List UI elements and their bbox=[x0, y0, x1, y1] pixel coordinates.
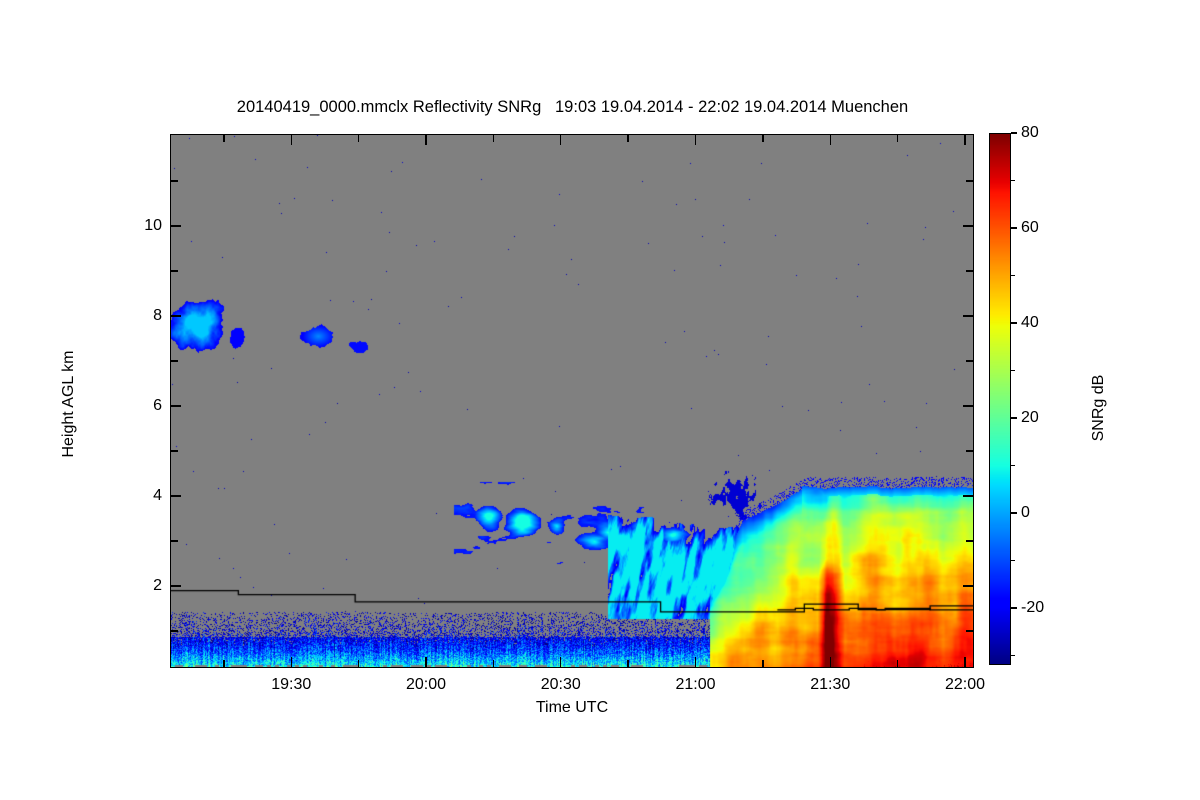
x-tick-minor bbox=[762, 660, 763, 668]
y-tick-minor-right bbox=[966, 270, 974, 271]
colorbar-tick-minor bbox=[1011, 560, 1015, 561]
x-tick-major bbox=[560, 657, 561, 668]
colorbar-tick-minor bbox=[1011, 655, 1015, 656]
colorbar-tick bbox=[1011, 512, 1017, 513]
y-tick-label: 6 bbox=[118, 397, 162, 415]
x-axis-title: Time UTC bbox=[170, 699, 974, 717]
x-tick-minor bbox=[897, 660, 898, 668]
y-tick-major bbox=[170, 315, 181, 316]
y-tick-major-right bbox=[963, 405, 974, 406]
x-tick-minor-top bbox=[762, 134, 763, 142]
colorbar-tick bbox=[1011, 132, 1017, 133]
y-tick-minor-right bbox=[966, 450, 974, 451]
x-tick-major bbox=[830, 657, 831, 668]
x-tick-major-top bbox=[560, 134, 561, 145]
x-tick-minor bbox=[493, 660, 494, 668]
x-tick-label: 21:30 bbox=[785, 676, 875, 694]
colorbar bbox=[989, 133, 1011, 665]
x-tick-label: 21:00 bbox=[651, 676, 741, 694]
heatmap-canvas bbox=[171, 135, 974, 668]
colorbar-tick bbox=[1011, 322, 1017, 323]
x-tick-minor bbox=[223, 660, 224, 668]
colorbar-title: SNRg dB bbox=[1090, 308, 1108, 508]
y-tick-label: 4 bbox=[118, 487, 162, 505]
y-tick-minor-right bbox=[966, 180, 974, 181]
y-tick-major-right bbox=[963, 585, 974, 586]
x-tick-major bbox=[425, 657, 426, 668]
page-title: 20140419_0000.mmclx Reflectivity SNRg 19… bbox=[170, 98, 975, 117]
y-tick-minor-right bbox=[966, 360, 974, 361]
colorbar-tick-label: -20 bbox=[1021, 599, 1044, 617]
x-tick-major bbox=[964, 657, 965, 668]
x-tick-minor-top bbox=[897, 134, 898, 142]
x-tick-minor-top bbox=[358, 134, 359, 142]
x-tick-minor bbox=[627, 660, 628, 668]
y-tick-major bbox=[170, 405, 181, 406]
plot-area bbox=[170, 134, 974, 668]
colorbar-tick-label: 40 bbox=[1021, 314, 1039, 332]
y-tick-minor-right bbox=[966, 540, 974, 541]
x-tick-label: 20:30 bbox=[516, 676, 606, 694]
x-tick-major-top bbox=[425, 134, 426, 145]
colorbar-tick-minor bbox=[1011, 180, 1015, 181]
x-tick-major-top bbox=[695, 134, 696, 145]
y-tick-minor bbox=[170, 180, 178, 181]
y-tick-label: 8 bbox=[118, 307, 162, 325]
y-tick-major bbox=[170, 585, 181, 586]
x-tick-minor-top bbox=[627, 134, 628, 142]
colorbar-tick bbox=[1011, 607, 1017, 608]
colorbar-tick-minor bbox=[1011, 465, 1015, 466]
y-tick-minor bbox=[170, 360, 178, 361]
colorbar-tick-minor bbox=[1011, 370, 1015, 371]
x-tick-major bbox=[291, 657, 292, 668]
y-tick-minor-right bbox=[966, 630, 974, 631]
x-tick-label: 22:00 bbox=[920, 676, 1010, 694]
radar-time-height-figure: 20140419_0000.mmclx Reflectivity SNRg 19… bbox=[0, 0, 1200, 800]
colorbar-tick-label: 0 bbox=[1021, 504, 1030, 522]
y-tick-minor bbox=[170, 450, 178, 451]
y-tick-major bbox=[170, 225, 181, 226]
x-tick-label: 19:30 bbox=[246, 676, 336, 694]
y-tick-minor bbox=[170, 270, 178, 271]
y-tick-major-right bbox=[963, 315, 974, 316]
x-tick-minor bbox=[358, 660, 359, 668]
colorbar-tick-label: 60 bbox=[1021, 219, 1039, 237]
y-tick-major-right bbox=[963, 495, 974, 496]
y-tick-major bbox=[170, 495, 181, 496]
y-tick-label: 10 bbox=[118, 217, 162, 235]
colorbar-tick bbox=[1011, 417, 1017, 418]
x-tick-major bbox=[695, 657, 696, 668]
x-tick-label: 20:00 bbox=[381, 676, 471, 694]
colorbar-tick bbox=[1011, 227, 1017, 228]
y-axis-title: Height AGL km bbox=[60, 304, 78, 504]
y-tick-label: 2 bbox=[118, 577, 162, 595]
x-tick-minor-top bbox=[493, 134, 494, 142]
colorbar-gradient bbox=[990, 134, 1011, 665]
y-tick-minor bbox=[170, 630, 178, 631]
x-tick-major-top bbox=[964, 134, 965, 145]
colorbar-tick-label: 80 bbox=[1021, 124, 1039, 142]
x-tick-major-top bbox=[830, 134, 831, 145]
y-tick-major-right bbox=[963, 225, 974, 226]
colorbar-tick-minor bbox=[1011, 275, 1015, 276]
colorbar-tick-label: 20 bbox=[1021, 409, 1039, 427]
x-tick-minor-top bbox=[223, 134, 224, 142]
y-tick-minor bbox=[170, 540, 178, 541]
x-tick-major-top bbox=[291, 134, 292, 145]
